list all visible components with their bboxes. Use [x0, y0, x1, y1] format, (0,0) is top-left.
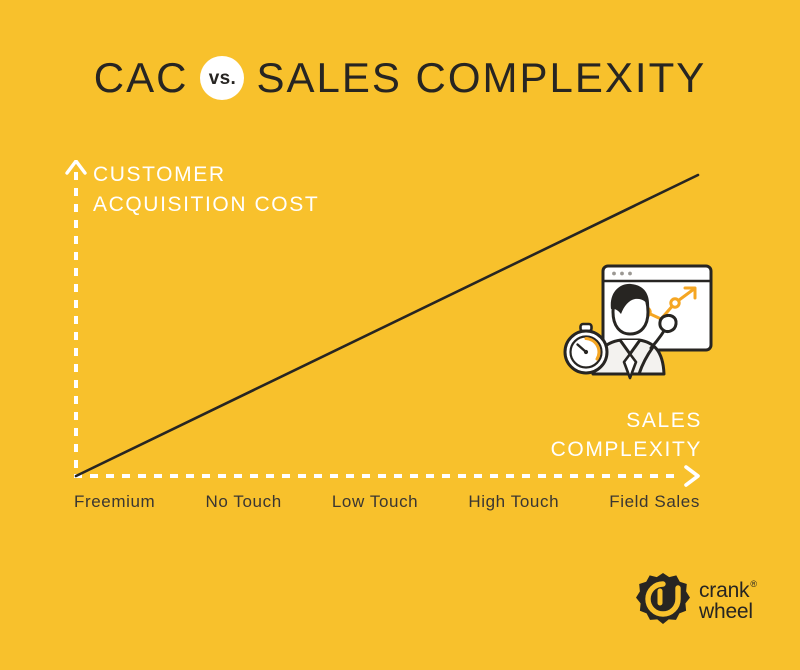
logo-wordmark: crank® wheel [699, 576, 756, 622]
stopwatch-icon [565, 324, 607, 373]
crankwheel-gear-badge-icon [636, 572, 690, 626]
page-title: CAC vs. SALES COMPLEXITY [0, 48, 800, 108]
x-axis-line [74, 474, 679, 478]
tick-label-field-sales: Field Sales [609, 492, 700, 512]
title-left-text: CAC [94, 57, 189, 99]
y-axis-title: CUSTOMER ACQUISITION COST [93, 160, 319, 220]
tick-label-freemium: Freemium [74, 492, 155, 512]
crankwheel-logo: crank® wheel [636, 570, 756, 628]
x-axis-arrow-icon [681, 464, 703, 488]
x-axis-title: SALES COMPLEXITY [342, 406, 702, 464]
logo-line-crank: crank® [699, 576, 756, 601]
x-axis-tick-labels: Freemium No Touch Low Touch High Touch F… [74, 492, 700, 512]
infographic-canvas: CAC vs. SALES COMPLEXITY CUSTOMER ACQUIS… [0, 0, 800, 670]
title-right-text: SALES COMPLEXITY [256, 57, 706, 99]
tick-label-low-touch: Low Touch [332, 492, 418, 512]
logo-line-wheel: wheel [699, 601, 756, 622]
tick-label-high-touch: High Touch [468, 492, 559, 512]
vs-badge-label: vs. [209, 69, 236, 88]
y-axis-arrow-icon [65, 160, 87, 178]
tick-label-no-touch: No Touch [205, 492, 281, 512]
registered-trademark-icon: ® [750, 579, 756, 589]
vs-badge: vs. [200, 56, 244, 100]
y-axis-line [74, 172, 78, 478]
salesperson-with-growth-chart-illustration [563, 262, 715, 380]
